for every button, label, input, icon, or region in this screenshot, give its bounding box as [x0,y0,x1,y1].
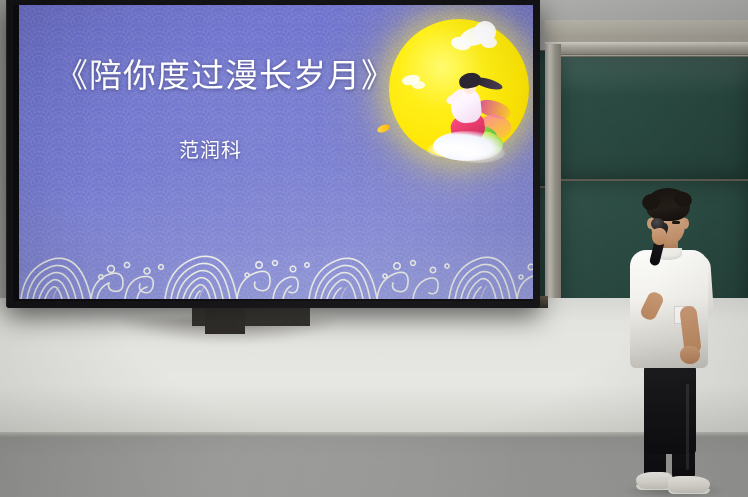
screenshot-scene: 《陪你度过漫长岁月》 范润科 [0,0,748,497]
person-eye-right [672,221,680,224]
pants-seam-detail [686,384,689,470]
sneaker-right [668,476,710,493]
chalkboard-top-rail [545,42,748,55]
person-hand-right [680,346,700,364]
student-performer [618,188,718,497]
presentation-slide: 《陪你度过漫长岁月》 范润科 [19,3,539,299]
chalkboard-divider-rail [545,44,561,326]
wall-mounted-display: 《陪你度过漫长岁月》 范润科 [6,0,540,308]
slide-vignette [19,3,539,299]
sneaker-left [636,472,672,489]
chalkboard-glare [559,56,748,96]
